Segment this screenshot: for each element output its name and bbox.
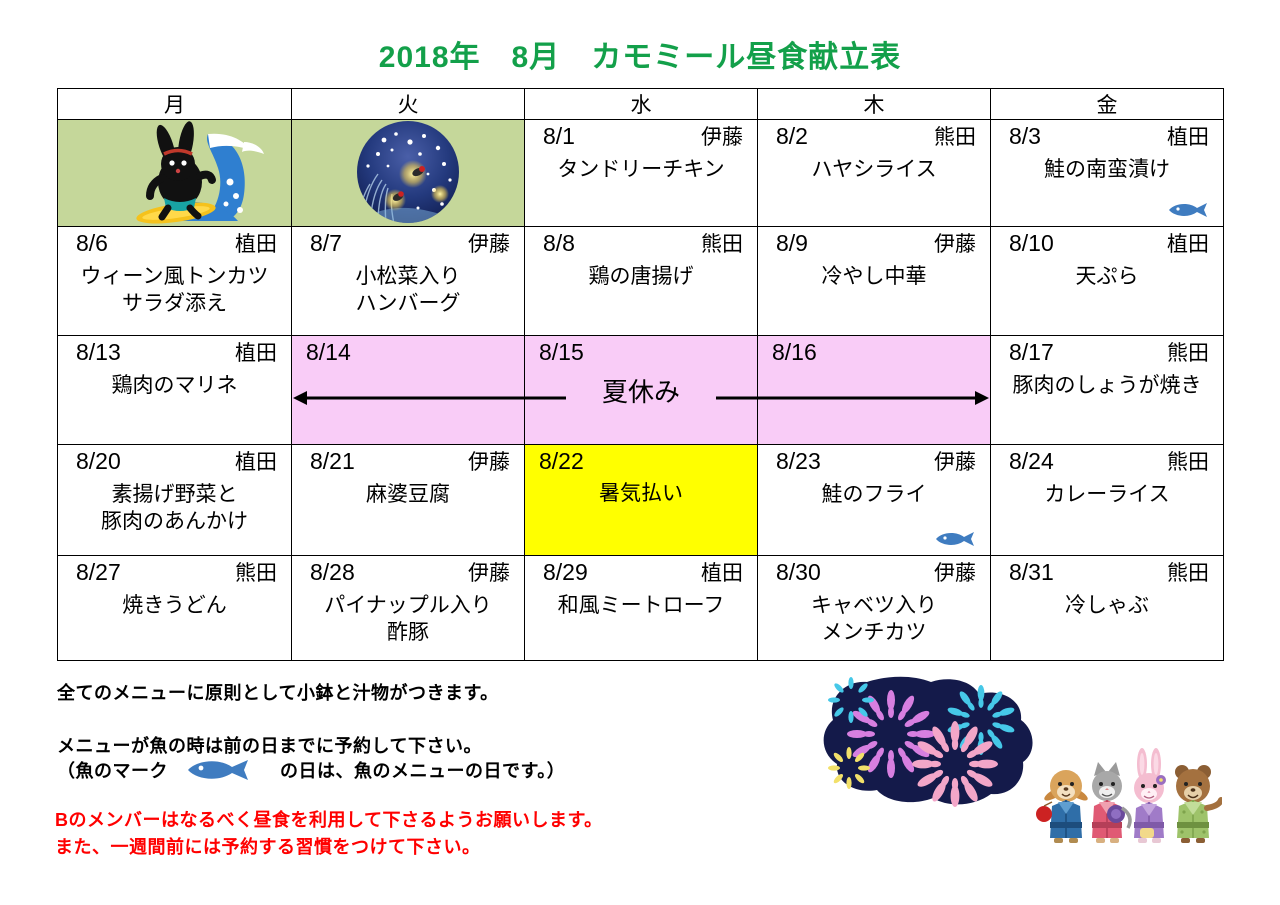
page-title: 2018年 8月 カモミール昼食献立表: [0, 32, 1280, 76]
day-date: 8/27: [76, 559, 121, 585]
day-staff: 熊田: [934, 126, 976, 150]
day-cell-header: 8/22: [525, 445, 757, 474]
day-cell-content: 8/24 熊田 カレーライス: [991, 445, 1223, 555]
day-menu: 冷やし中華: [758, 257, 990, 291]
day-staff: 熊田: [1167, 562, 1209, 586]
fish-marker-icon: [934, 531, 976, 547]
day-date: 8/8: [543, 230, 575, 256]
day-staff: 伊藤: [934, 233, 976, 257]
day-date: 8/7: [310, 230, 342, 256]
day-date: 8/24: [1009, 448, 1054, 474]
calendar-cell-day[interactable]: 8/29 植田 和風ミートローフ: [525, 556, 758, 661]
calendar-cell-day[interactable]: 8/27 熊田 焼きうどん: [58, 556, 292, 661]
rabbit-figure: [1134, 748, 1166, 843]
day-date: 8/1: [543, 123, 575, 149]
day-menu: 麻婆豆腐: [292, 475, 524, 509]
day-menu: キャベツ入り メンチカツ: [758, 586, 990, 647]
day-date: 8/29: [543, 559, 588, 585]
day-date: 8/13: [76, 339, 121, 365]
day-staff: 熊田: [701, 233, 743, 257]
day-date: 8/16: [772, 339, 817, 365]
cat-figure: [1092, 762, 1130, 843]
calendar-cell-illustration: [58, 120, 292, 227]
day-menu: 鮭の南蛮漬け: [991, 150, 1223, 184]
day-menu: 鮭のフライ: [758, 475, 990, 509]
day-date: 8/31: [1009, 559, 1054, 585]
day-staff: 熊田: [1167, 342, 1209, 366]
day-staff: 伊藤: [934, 562, 976, 586]
fireworks-illustration: [815, 672, 1055, 817]
column-header-friday: 金: [991, 89, 1224, 120]
day-staff: 伊藤: [468, 233, 510, 257]
day-cell-header: 8/23 伊藤: [758, 445, 990, 475]
calendar-week-row: 8/27 熊田 焼きうどん 8/28 伊藤 パイナップル入り 酢豚: [58, 556, 1224, 661]
calendar-cell-day[interactable]: 8/20 植田 素揚げ野菜と 豚肉のあんかけ: [58, 445, 292, 556]
day-cell-content: 8/21 伊藤 麻婆豆腐: [292, 445, 524, 555]
day-cell-content: 8/17 熊田 豚肉のしょうが焼き: [991, 336, 1223, 444]
day-cell-content: 8/31 熊田 冷しゃぶ: [991, 556, 1223, 660]
day-cell-header: 8/20 植田: [58, 445, 291, 475]
day-cell-header: 8/2 熊田: [758, 120, 990, 150]
day-date: 8/20: [76, 448, 121, 474]
bear-figure: [1175, 765, 1221, 843]
day-menu: 鶏肉のマリネ: [58, 366, 291, 400]
calendar-cell-day[interactable]: 8/9 伊藤 冷やし中華: [758, 227, 991, 336]
day-cell-content: 8/3 植田 鮭の南蛮漬け: [991, 120, 1223, 226]
day-menu: 冷しゃぶ: [991, 586, 1223, 620]
day-date: 8/6: [76, 230, 108, 256]
surfing-rabbit-illustration: [58, 120, 291, 226]
day-staff: 熊田: [235, 562, 277, 586]
calendar-cell-day[interactable]: 8/10 植田 天ぷら: [991, 227, 1224, 336]
calendar-cell-day[interactable]: 8/23 伊藤 鮭のフライ: [758, 445, 991, 556]
column-header-monday: 月: [58, 89, 292, 120]
day-staff: 植田: [235, 233, 277, 257]
column-header-tuesday: 火: [292, 89, 525, 120]
calendar-cell-day[interactable]: 8/31 熊田 冷しゃぶ: [991, 556, 1224, 661]
day-date: 8/15: [539, 339, 584, 365]
calendar-cell-illustration: [292, 120, 525, 227]
day-cell-content: 8/7 伊藤 小松菜入り ハンバーグ: [292, 227, 524, 335]
day-staff: 植田: [1167, 126, 1209, 150]
day-cell-content: 8/29 植田 和風ミートローフ: [525, 556, 757, 660]
day-cell-content: 8/20 植田 素揚げ野菜と 豚肉のあんかけ: [58, 445, 291, 555]
day-menu: パイナップル入り 酢豚: [292, 586, 524, 647]
day-cell-content: 8/27 熊田 焼きうどん: [58, 556, 291, 660]
day-date: 8/10: [1009, 230, 1054, 256]
calendar-cell-day[interactable]: 8/3 植田 鮭の南蛮漬け: [991, 120, 1224, 227]
day-cell-header: 8/31 熊田: [991, 556, 1223, 586]
day-staff: 植田: [1167, 233, 1209, 257]
note-fish-mark-before: （魚のマーク: [57, 761, 168, 781]
day-cell-content: 8/10 植田 天ぷら: [991, 227, 1223, 335]
day-cell-content: 8/1 伊藤 タンドリーチキン: [525, 120, 757, 226]
note-fish-reservation: メニューが魚の時は前の日までに予約して下さい。: [57, 732, 482, 758]
firefly-illustration: [292, 120, 524, 226]
fish-marker-icon: [185, 758, 251, 782]
day-cell-header: 8/9 伊藤: [758, 227, 990, 257]
day-date: 8/9: [776, 230, 808, 256]
note-b-members: Bのメンバーはなるべく昼食を利用して下さるようお願いします。: [55, 806, 603, 832]
day-cell-content: 8/6 植田 ウィーン風トンカツ サラダ添え: [58, 227, 291, 335]
day-cell-content: 8/30 伊藤 キャベツ入り メンチカツ: [758, 556, 990, 660]
day-menu: 和風ミートローフ: [525, 586, 757, 620]
day-staff: 熊田: [1167, 451, 1209, 475]
day-staff: 伊藤: [934, 451, 976, 475]
day-staff: 植田: [235, 451, 277, 475]
calendar-cell-day[interactable]: 8/21 伊藤 麻婆豆腐: [292, 445, 525, 556]
column-header-thursday: 木: [758, 89, 991, 120]
calendar-week-row: 8/20 植田 素揚げ野菜と 豚肉のあんかけ 8/21 伊藤 麻婆豆腐: [58, 445, 1224, 556]
day-date: 8/21: [310, 448, 355, 474]
calendar-cell-day[interactable]: 8/7 伊藤 小松菜入り ハンバーグ: [292, 227, 525, 336]
calendar-cell-day[interactable]: 8/24 熊田 カレーライス: [991, 445, 1224, 556]
day-date: 8/2: [776, 123, 808, 149]
day-staff: 植田: [701, 562, 743, 586]
day-date: 8/28: [310, 559, 355, 585]
day-cell-header: 8/24 熊田: [991, 445, 1223, 475]
day-menu: 鶏の唐揚げ: [525, 257, 757, 291]
day-menu: 暑気払い: [525, 474, 757, 508]
day-staff: 伊藤: [701, 126, 743, 150]
day-menu: カレーライス: [991, 475, 1223, 509]
calendar-cell-day[interactable]: 8/8 熊田 鶏の唐揚げ: [525, 227, 758, 336]
day-menu: 天ぷら: [991, 257, 1223, 291]
calendar-cell-day[interactable]: 8/6 植田 ウィーン風トンカツ サラダ添え: [58, 227, 292, 336]
day-date: 8/14: [306, 339, 351, 365]
calendar-cell-day[interactable]: 8/13 植田 鶏肉のマリネ: [58, 336, 292, 445]
column-header-wednesday: 水: [525, 89, 758, 120]
day-cell-content: 8/28 伊藤 パイナップル入り 酢豚: [292, 556, 524, 660]
day-menu: タンドリーチキン: [525, 150, 757, 184]
firefly-night-circle-icon: [292, 120, 524, 224]
calendar-header-row: 月 火 水 木 金: [58, 89, 1224, 120]
note-fish-mark: （魚のマークの日は、魚のメニューの日です。）: [57, 757, 565, 783]
summer-vacation-label: 夏休み: [291, 374, 991, 410]
day-date: 8/23: [776, 448, 821, 474]
day-menu: 小松菜入り ハンバーグ: [292, 257, 524, 318]
note-week-ahead: また、一週間前には予約する習慣をつけて下さい。: [55, 833, 481, 859]
day-menu: ウィーン風トンカツ サラダ添え: [58, 257, 291, 318]
day-cell-header: 8/13 植田: [58, 336, 291, 366]
yukata-animals-illustration: [1032, 742, 1222, 847]
day-menu: ハヤシライス: [758, 150, 990, 184]
day-staff: 伊藤: [468, 451, 510, 475]
calendar-cell-event[interactable]: 8/22 暑気払い: [525, 445, 758, 556]
day-cell-header: 8/15: [525, 336, 757, 365]
fish-marker-icon: [1167, 202, 1209, 218]
day-cell-header: 8/7 伊藤: [292, 227, 524, 257]
calendar-week-row: 8/1 伊藤 タンドリーチキン 8/2 熊田 ハヤシライス: [58, 120, 1224, 227]
day-cell-header: 8/8 熊田: [525, 227, 757, 257]
day-cell-content: 8/22 暑気払い: [525, 445, 757, 555]
day-cell-header: 8/30 伊藤: [758, 556, 990, 586]
day-date: 8/22: [539, 448, 584, 474]
day-cell-header: 8/27 熊田: [58, 556, 291, 586]
day-date: 8/30: [776, 559, 821, 585]
calendar-cell-day[interactable]: 8/2 熊田 ハヤシライス: [758, 120, 991, 227]
calendar-cell-day[interactable]: 8/17 熊田 豚肉のしょうが焼き: [991, 336, 1224, 445]
day-menu: 豚肉のしょうが焼き: [991, 366, 1223, 400]
day-cell-header: 8/3 植田: [991, 120, 1223, 150]
day-cell-header: 8/17 熊田: [991, 336, 1223, 366]
day-cell-header: 8/21 伊藤: [292, 445, 524, 475]
day-cell-header: 8/29 植田: [525, 556, 757, 586]
day-menu: 素揚げ野菜と 豚肉のあんかけ: [58, 475, 291, 536]
day-cell-header: 8/16: [758, 336, 990, 365]
day-cell-header: 8/14: [292, 336, 524, 365]
note-side-dishes: 全てのメニューに原則として小鉢と汁物がつきます。: [57, 679, 499, 705]
day-cell-content: 8/2 熊田 ハヤシライス: [758, 120, 990, 226]
surfing-rabbit-icon: [58, 120, 291, 224]
day-cell-content: 8/9 伊藤 冷やし中華: [758, 227, 990, 335]
day-cell-content: 8/23 伊藤 鮭のフライ: [758, 445, 990, 555]
day-date: 8/3: [1009, 123, 1041, 149]
calendar-cell-day[interactable]: 8/1 伊藤 タンドリーチキン: [525, 120, 758, 227]
day-cell-header: 8/28 伊藤: [292, 556, 524, 586]
day-staff: 植田: [235, 342, 277, 366]
calendar-cell-day[interactable]: 8/28 伊藤 パイナップル入り 酢豚: [292, 556, 525, 661]
day-menu: 焼きうどん: [58, 586, 291, 620]
day-date: 8/17: [1009, 339, 1054, 365]
day-cell-content: 8/13 植田 鶏肉のマリネ: [58, 336, 291, 444]
dog-figure: [1036, 770, 1090, 843]
note-fish-mark-after: の日は、魚のメニューの日です。）: [280, 761, 565, 781]
calendar-week-row: 8/6 植田 ウィーン風トンカツ サラダ添え 8/7 伊藤 小松菜入り ハンバー…: [58, 227, 1224, 336]
day-cell-header: 8/6 植田: [58, 227, 291, 257]
calendar-cell-day[interactable]: 8/30 伊藤 キャベツ入り メンチカツ: [758, 556, 991, 661]
day-cell-content: 8/8 熊田 鶏の唐揚げ: [525, 227, 757, 335]
day-cell-header: 8/10 植田: [991, 227, 1223, 257]
day-cell-header: 8/1 伊藤: [525, 120, 757, 150]
day-staff: 伊藤: [468, 562, 510, 586]
